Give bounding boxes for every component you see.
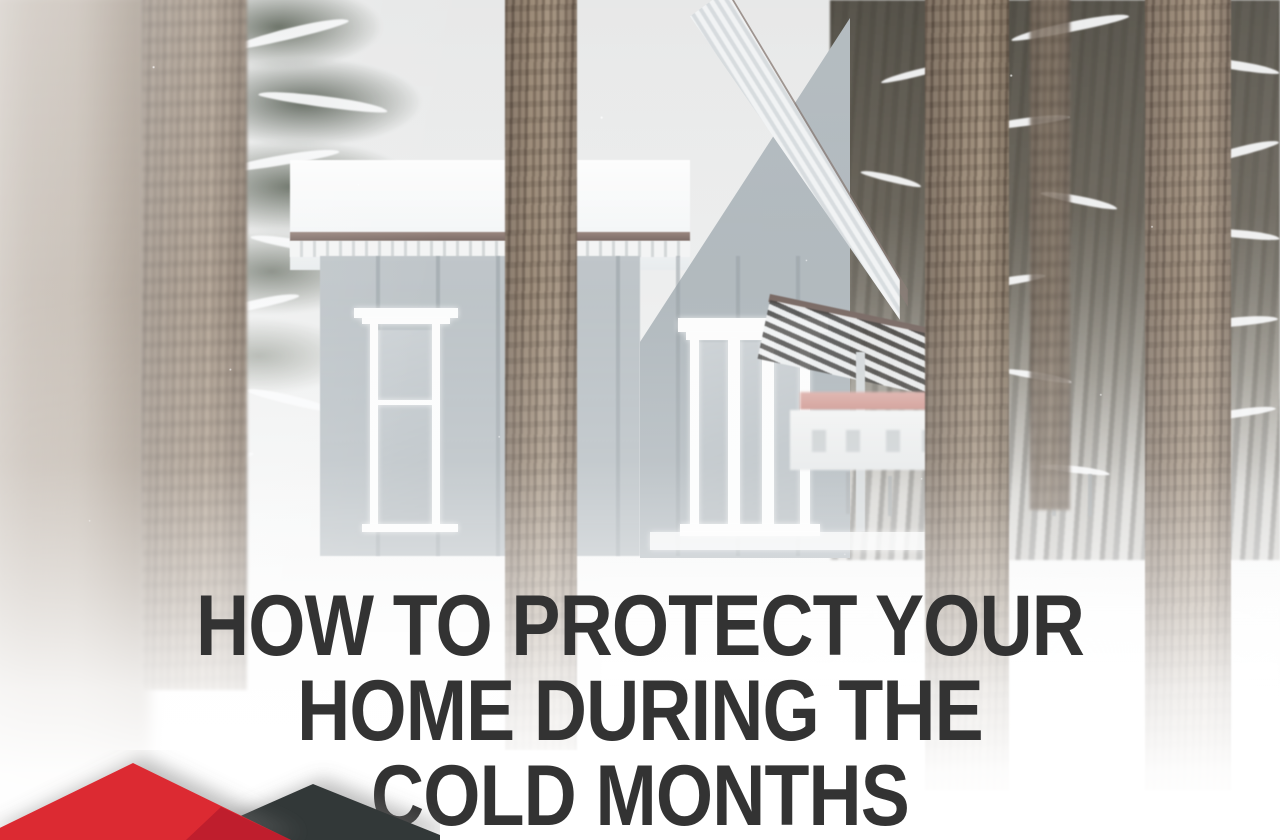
window-frame: [432, 324, 440, 530]
window-frame: [370, 324, 378, 530]
roof-fascia: [290, 241, 690, 257]
tree-trunk: [1145, 0, 1231, 790]
roof-peaks-logo: [0, 750, 440, 840]
door-glass: [698, 342, 728, 530]
door-frame: [762, 338, 774, 534]
door-frame: [690, 338, 699, 534]
door-frame: [728, 338, 740, 534]
window-header-trim: [354, 308, 458, 318]
window-glass: [376, 330, 434, 524]
fence-post: [846, 472, 850, 514]
foreground-tree-trunk: [0, 0, 150, 840]
window-sill: [362, 524, 458, 532]
fence-post: [1088, 474, 1092, 516]
door-glass: [740, 342, 762, 530]
tree-trunk: [142, 0, 247, 690]
tree-trunk: [505, 0, 577, 750]
a-frame-cabin: [300, 0, 900, 560]
distant-window: [846, 430, 860, 452]
poster-canvas: HOW TO PROTECT YOUR HOME DURING THE COLD…: [0, 0, 1280, 840]
distant-window: [886, 430, 900, 452]
tree-trunk: [925, 0, 1009, 790]
distant-window: [812, 430, 826, 452]
roof-edge: [290, 232, 690, 241]
tree-trunk: [1030, 0, 1070, 510]
winter-cabin-photo: [0, 0, 1280, 840]
fence-post: [888, 476, 892, 516]
window-mullion: [376, 400, 434, 405]
